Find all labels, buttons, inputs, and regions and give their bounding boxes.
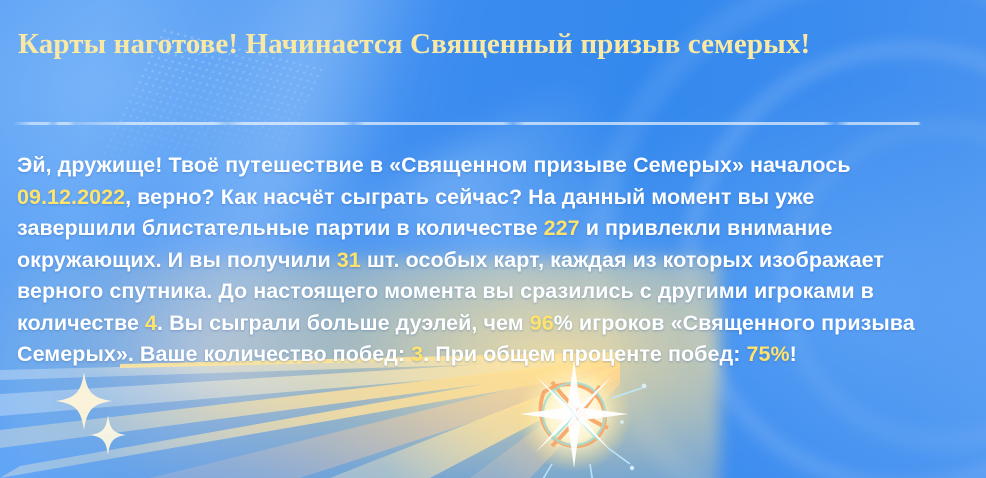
banner-content: Карты наготове! Начинается Священный при… [0,0,986,478]
summary-text-segment: Эй, дружище! Твоё путешествие в «Священн… [17,153,851,177]
stat-highlight: 09.12.2022 [17,185,125,209]
genshin-tcg-summary-banner: Карты наготове! Начинается Священный при… [0,0,986,478]
summary-paragraph: Эй, дружище! Твоё путешествие в «Священн… [17,150,922,371]
section-divider [13,122,921,125]
stat-highlight: 227 [544,216,580,240]
stat-highlight: 31 [337,248,361,272]
stat-highlight: 96 [530,311,554,335]
summary-text-segment: ! [790,342,797,366]
summary-text-segment: . При общем проценте побед: [423,342,746,366]
stat-highlight: 75% [746,342,789,366]
summary-text-segment: . Вы сыграли больше дуэлей, чем [157,311,530,335]
page-title: Карты наготове! Начинается Священный при… [18,26,848,63]
stat-highlight: 4 [145,311,157,335]
stat-highlight: 3 [411,342,423,366]
